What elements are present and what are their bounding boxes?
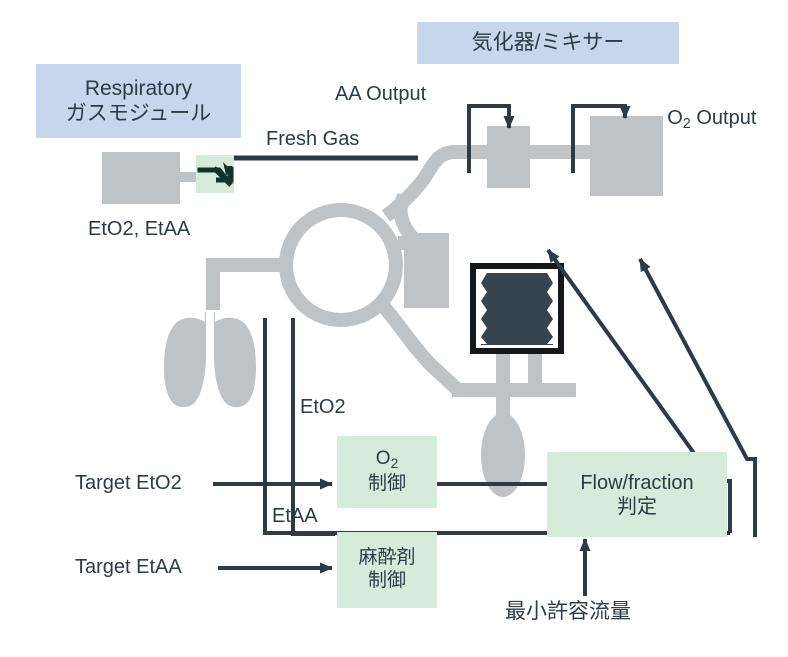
gas-analyzer-icon [102,152,180,204]
o2-control-line2: 制御 [368,473,406,496]
respiratory-gas-module-line1: Respiratory [85,76,192,101]
o2-output-label: O2 Output [645,83,756,156]
respiratory-gas-module-box[interactable]: Respiratory ガスモジュール [36,64,241,138]
eto2-feedback-line [293,318,335,534]
vaporizer-mixer-box[interactable]: 気化器/ミキサー [417,22,679,64]
gas-analyzer-stub [178,172,198,182]
respiratory-gas-module-line2: ガスモジュール [66,101,212,126]
fresh-gas-label: Fresh Gas [266,128,359,152]
gas-sample-block [398,236,418,250]
eto2-feedback-label: EtO2 [300,396,346,420]
flow-fraction-line2: 判定 [617,495,657,519]
patient-limb-tube [213,265,286,310]
o2-output-sub: 2 [683,116,691,132]
target-etaa-label: Target EtAA [75,556,182,580]
eto2-etaa-module-label: EtO2, EtAA [88,218,190,242]
check-valve-icon [196,155,234,193]
bellows-icon [473,266,561,351]
lungs-icon [164,312,256,407]
vaporizer-mixer-label: 気化器/ミキサー [472,30,625,55]
expiratory-tube [381,303,458,390]
anesthetic-control-box[interactable]: 麻酔剤 制御 [337,532,437,608]
diagram-canvas: Respiratory ガスモジュール 気化器/ミキサー Fresh Gas E… [0,0,788,657]
o2-output-rest: Output [691,107,757,129]
o2-control-box[interactable]: O2 制御 [337,436,437,508]
flow-fraction-decision-box[interactable]: Flow/fraction 判定 [547,452,727,537]
vaporizer-mixer-link-tube [527,145,593,159]
aa-output-label: AA Output [335,83,426,107]
o2-output-main: O [667,107,683,129]
breathing-circuit-icon [286,210,396,320]
flow-fraction-line1: Flow/fraction [580,471,693,495]
target-eto2-label: Target EtO2 [75,472,182,496]
etaa-feedback-label: EtAA [272,505,318,529]
anesthetic-control-line1: 麻酔剤 [358,547,415,570]
anesthetic-control-line2: 制御 [368,570,406,593]
o2-control-line1: O2 [376,448,398,472]
vaporizer-unit-icon [487,126,530,188]
min-allowed-flow-label: 最小許容流量 [505,600,631,625]
